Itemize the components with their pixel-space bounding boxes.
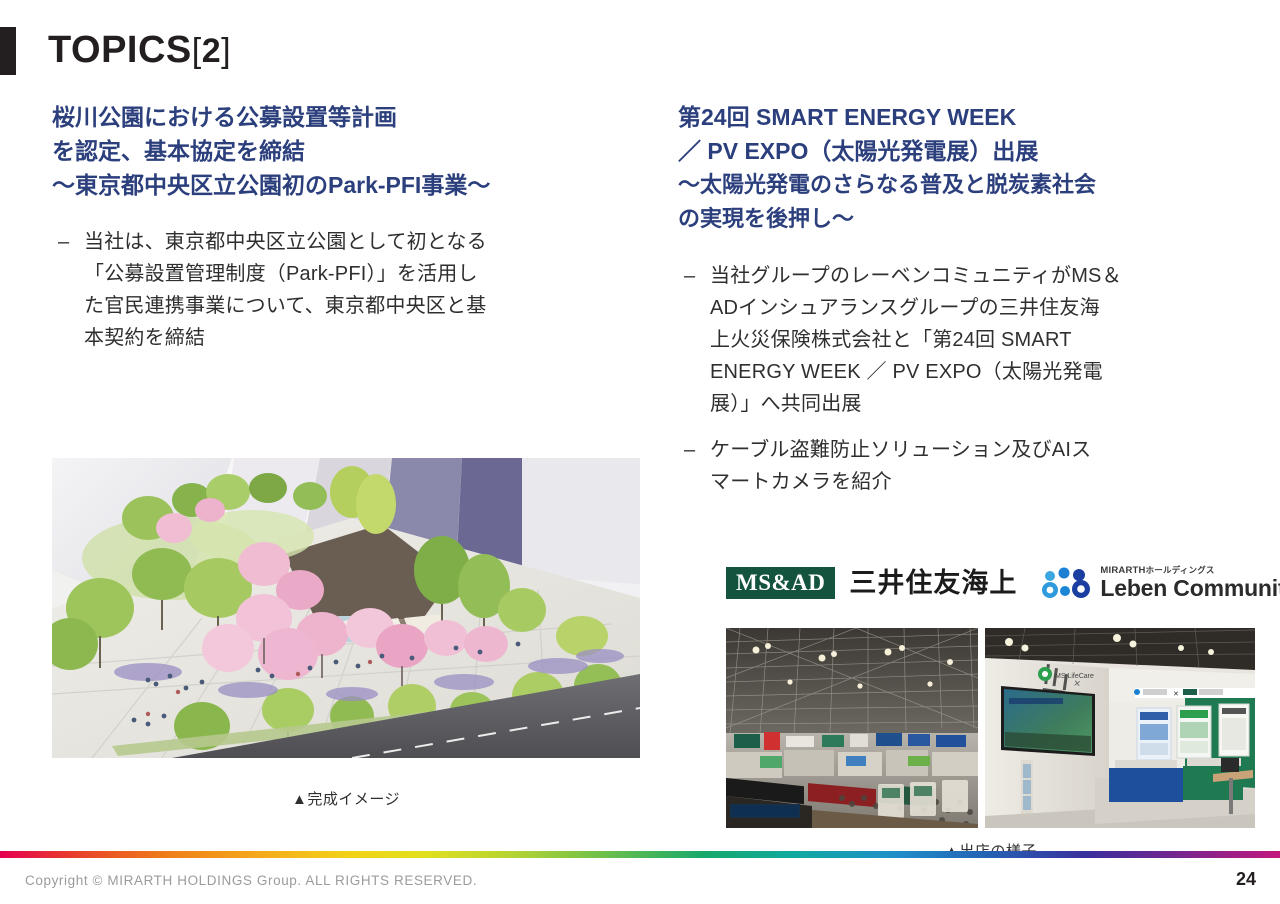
left-heading-line-3: 〜東京都中央区立公園初のPark-PFI事業〜 bbox=[52, 168, 644, 202]
right-heading-line-2: ／ PV EXPO（太陽光発電展）出展 bbox=[678, 134, 1268, 168]
list-item: – ケーブル盗難防止ソリューション及びAIス マートカメラを紹介 bbox=[678, 434, 1268, 498]
bullet-line: 展）」へ共同出展 bbox=[710, 388, 1122, 420]
leben-community-logo: MIRARTHホールディングス Leben Community bbox=[1041, 565, 1280, 601]
copyright-text: Copyright © MIRARTH HOLDINGS Group. ALL … bbox=[25, 873, 477, 888]
list-item: – 当社は、東京都中央区立公園として初となる 「公募設置管理制度（Park-PF… bbox=[52, 226, 644, 354]
bullet-text: 当社グループのレーベンコミュニティがMS＆ ADインシュアランスグループの三井住… bbox=[710, 260, 1122, 420]
partner-logos: MS&AD 三井住友海上 MIRARTHホールディングス Leben Commu… bbox=[726, 560, 1280, 606]
leben-brand-suffix: ホールディングス bbox=[1146, 565, 1215, 575]
left-column: 桜川公園における公募設置等計画 を認定、基本協定を締結 〜東京都中央区立公園初の… bbox=[52, 100, 644, 368]
bullet-line: 当社は、東京都中央区立公園として初となる bbox=[84, 226, 487, 258]
bullet-dash: – bbox=[52, 226, 84, 354]
left-bullet-list: – 当社は、東京都中央区立公園として初となる 「公募設置管理制度（Park-PF… bbox=[52, 226, 644, 354]
exhibition-hall-photo bbox=[726, 628, 978, 828]
bullet-line: 当社グループのレーベンコミュニティがMS＆ bbox=[710, 260, 1122, 292]
bullet-line: 上火災保険株式会社と「第24回 SMART bbox=[710, 324, 1122, 356]
park-rendering-image bbox=[52, 458, 640, 758]
bullet-dash: – bbox=[678, 434, 710, 498]
page-number: 24 bbox=[1236, 869, 1256, 890]
msad-logo-text: MS&AD bbox=[736, 570, 825, 595]
slide-root: TOPICS[2] 桜川公園における公募設置等計画 を認定、基本協定を締結 〜東… bbox=[0, 0, 1280, 904]
left-heading-line-2: を認定、基本協定を締結 bbox=[52, 134, 644, 168]
bullet-line: ENERGY WEEK ／ PV EXPO（太陽光発電 bbox=[710, 356, 1122, 388]
leben-company-name: Leben Community bbox=[1100, 576, 1280, 601]
left-section-heading: 桜川公園における公募設置等計画 を認定、基本協定を締結 〜東京都中央区立公園初の… bbox=[52, 100, 644, 202]
header-accent-bar bbox=[0, 27, 16, 75]
mitsui-sumitomo-kaijo-logo: 三井住友海上 bbox=[849, 570, 1017, 597]
right-bullet-list: – 当社グループのレーベンコミュニティがMS＆ ADインシュアランスグループの三… bbox=[678, 260, 1268, 498]
bullet-line: た官民連携事業について、東京都中央区と基 bbox=[84, 290, 487, 322]
leben-text-block: MIRARTHホールディングス Leben Community bbox=[1100, 565, 1280, 601]
bracket-close: ] bbox=[221, 32, 231, 70]
bullet-line: マートカメラを紹介 bbox=[710, 466, 1091, 498]
bullet-line: ADインシュアランスグループの三井住友海 bbox=[710, 292, 1122, 324]
list-item: – 当社グループのレーベンコミュニティがMS＆ ADインシュアランスグループの三… bbox=[678, 260, 1268, 420]
svg-text:✕: ✕ bbox=[1173, 691, 1179, 698]
right-section-heading: 第24回 SMART ENERGY WEEK ／ PV EXPO（太陽光発電展）… bbox=[678, 100, 1268, 236]
leben-mark-icon bbox=[1041, 567, 1093, 599]
page-title: TOPICS[2] bbox=[48, 26, 231, 75]
right-heading-line-1: 第24回 SMART ENERGY WEEK bbox=[678, 100, 1268, 134]
left-heading-line-1: 桜川公園における公募設置等計画 bbox=[52, 100, 644, 134]
bullet-line: ケーブル盗難防止ソリューション及びAIス bbox=[710, 434, 1091, 466]
bullet-line: 「公募設置管理制度（Park-PFI）」を活用し bbox=[84, 258, 487, 290]
msad-logo: MS&AD bbox=[726, 567, 835, 599]
park-rendering-figure bbox=[52, 458, 640, 758]
svg-text:MS LifeCare: MS LifeCare bbox=[1055, 673, 1094, 680]
right-column: 第24回 SMART ENERGY WEEK ／ PV EXPO（太陽光発電展）… bbox=[678, 100, 1268, 512]
bullet-line: 本契約を締結 bbox=[84, 322, 487, 354]
right-heading-line-4: の実現を後押し〜 bbox=[678, 202, 1268, 236]
footer-gradient-bar bbox=[0, 851, 1280, 858]
bracket-open: [ bbox=[192, 32, 202, 70]
park-figure-caption: ▲完成イメージ bbox=[52, 788, 640, 809]
page-title-text: TOPICS bbox=[48, 29, 192, 71]
exhibition-photos: ✕ MS LifeCare bbox=[726, 628, 1255, 828]
right-heading-line-3: 〜太陽光発電のさらなる普及と脱炭素社会 bbox=[678, 168, 1268, 202]
bullet-dash: – bbox=[678, 260, 710, 420]
bullet-text: ケーブル盗難防止ソリューション及びAIス マートカメラを紹介 bbox=[710, 434, 1091, 498]
topic-number: 2 bbox=[202, 32, 221, 70]
booth-photo: ✕ MS LifeCare bbox=[985, 628, 1255, 828]
bullet-text: 当社は、東京都中央区立公園として初となる 「公募設置管理制度（Park-PFI）… bbox=[84, 226, 487, 354]
